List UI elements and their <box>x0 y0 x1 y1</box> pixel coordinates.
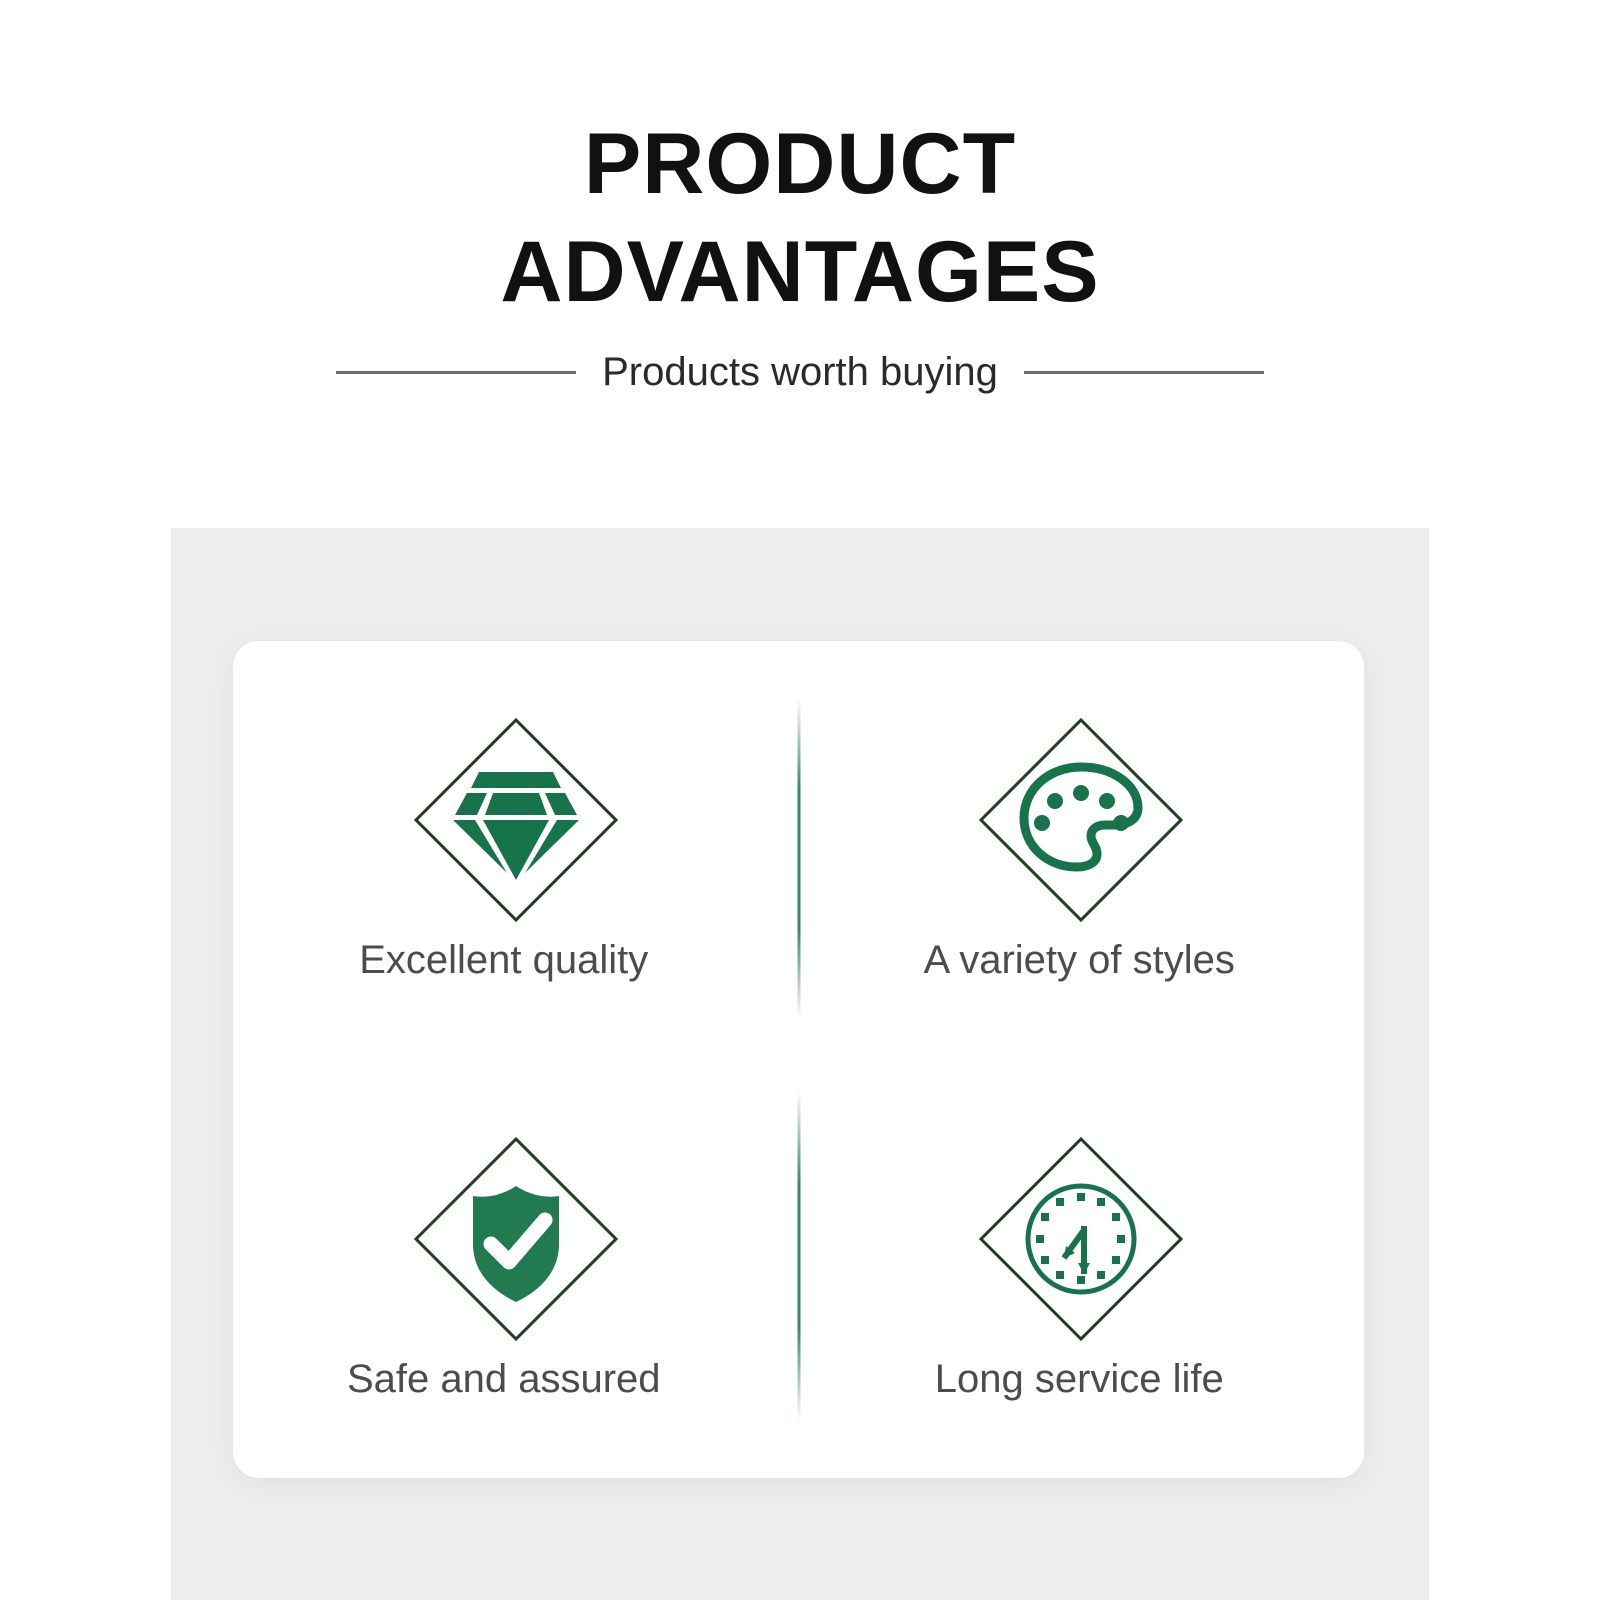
features-card: Excellent quality <box>233 641 1364 1478</box>
page-title-line-1: PRODUCT <box>0 110 1600 218</box>
feature-item-long-service-life[interactable]: Long service life <box>799 1060 1365 1479</box>
shield-check-icon <box>411 1134 621 1344</box>
page-subtitle: Products worth buying <box>602 348 998 396</box>
subtitle-rule-right <box>1024 371 1264 374</box>
palette-icon <box>976 715 1186 925</box>
feature-label: Safe and assured <box>347 1354 661 1404</box>
feature-item-excellent-quality[interactable]: Excellent quality <box>233 641 799 1060</box>
feature-item-variety-of-styles[interactable]: A variety of styles <box>799 641 1365 1060</box>
page-header: PRODUCT ADVANTAGES Products worth buying <box>0 0 1600 470</box>
feature-label: A variety of styles <box>924 935 1235 985</box>
gem-icon <box>411 715 621 925</box>
feature-item-safe-and-assured[interactable]: Safe and assured <box>233 1060 799 1479</box>
page-title-line-2: ADVANTAGES <box>0 218 1600 326</box>
features-grid: Excellent quality <box>233 641 1364 1478</box>
page-title: PRODUCT ADVANTAGES <box>0 110 1600 326</box>
feature-label: Long service life <box>935 1354 1224 1404</box>
subtitle-rule-left <box>336 371 576 374</box>
subtitle-row: Products worth buying <box>0 348 1600 396</box>
clock-icon <box>976 1134 1186 1344</box>
feature-label: Excellent quality <box>359 935 648 985</box>
